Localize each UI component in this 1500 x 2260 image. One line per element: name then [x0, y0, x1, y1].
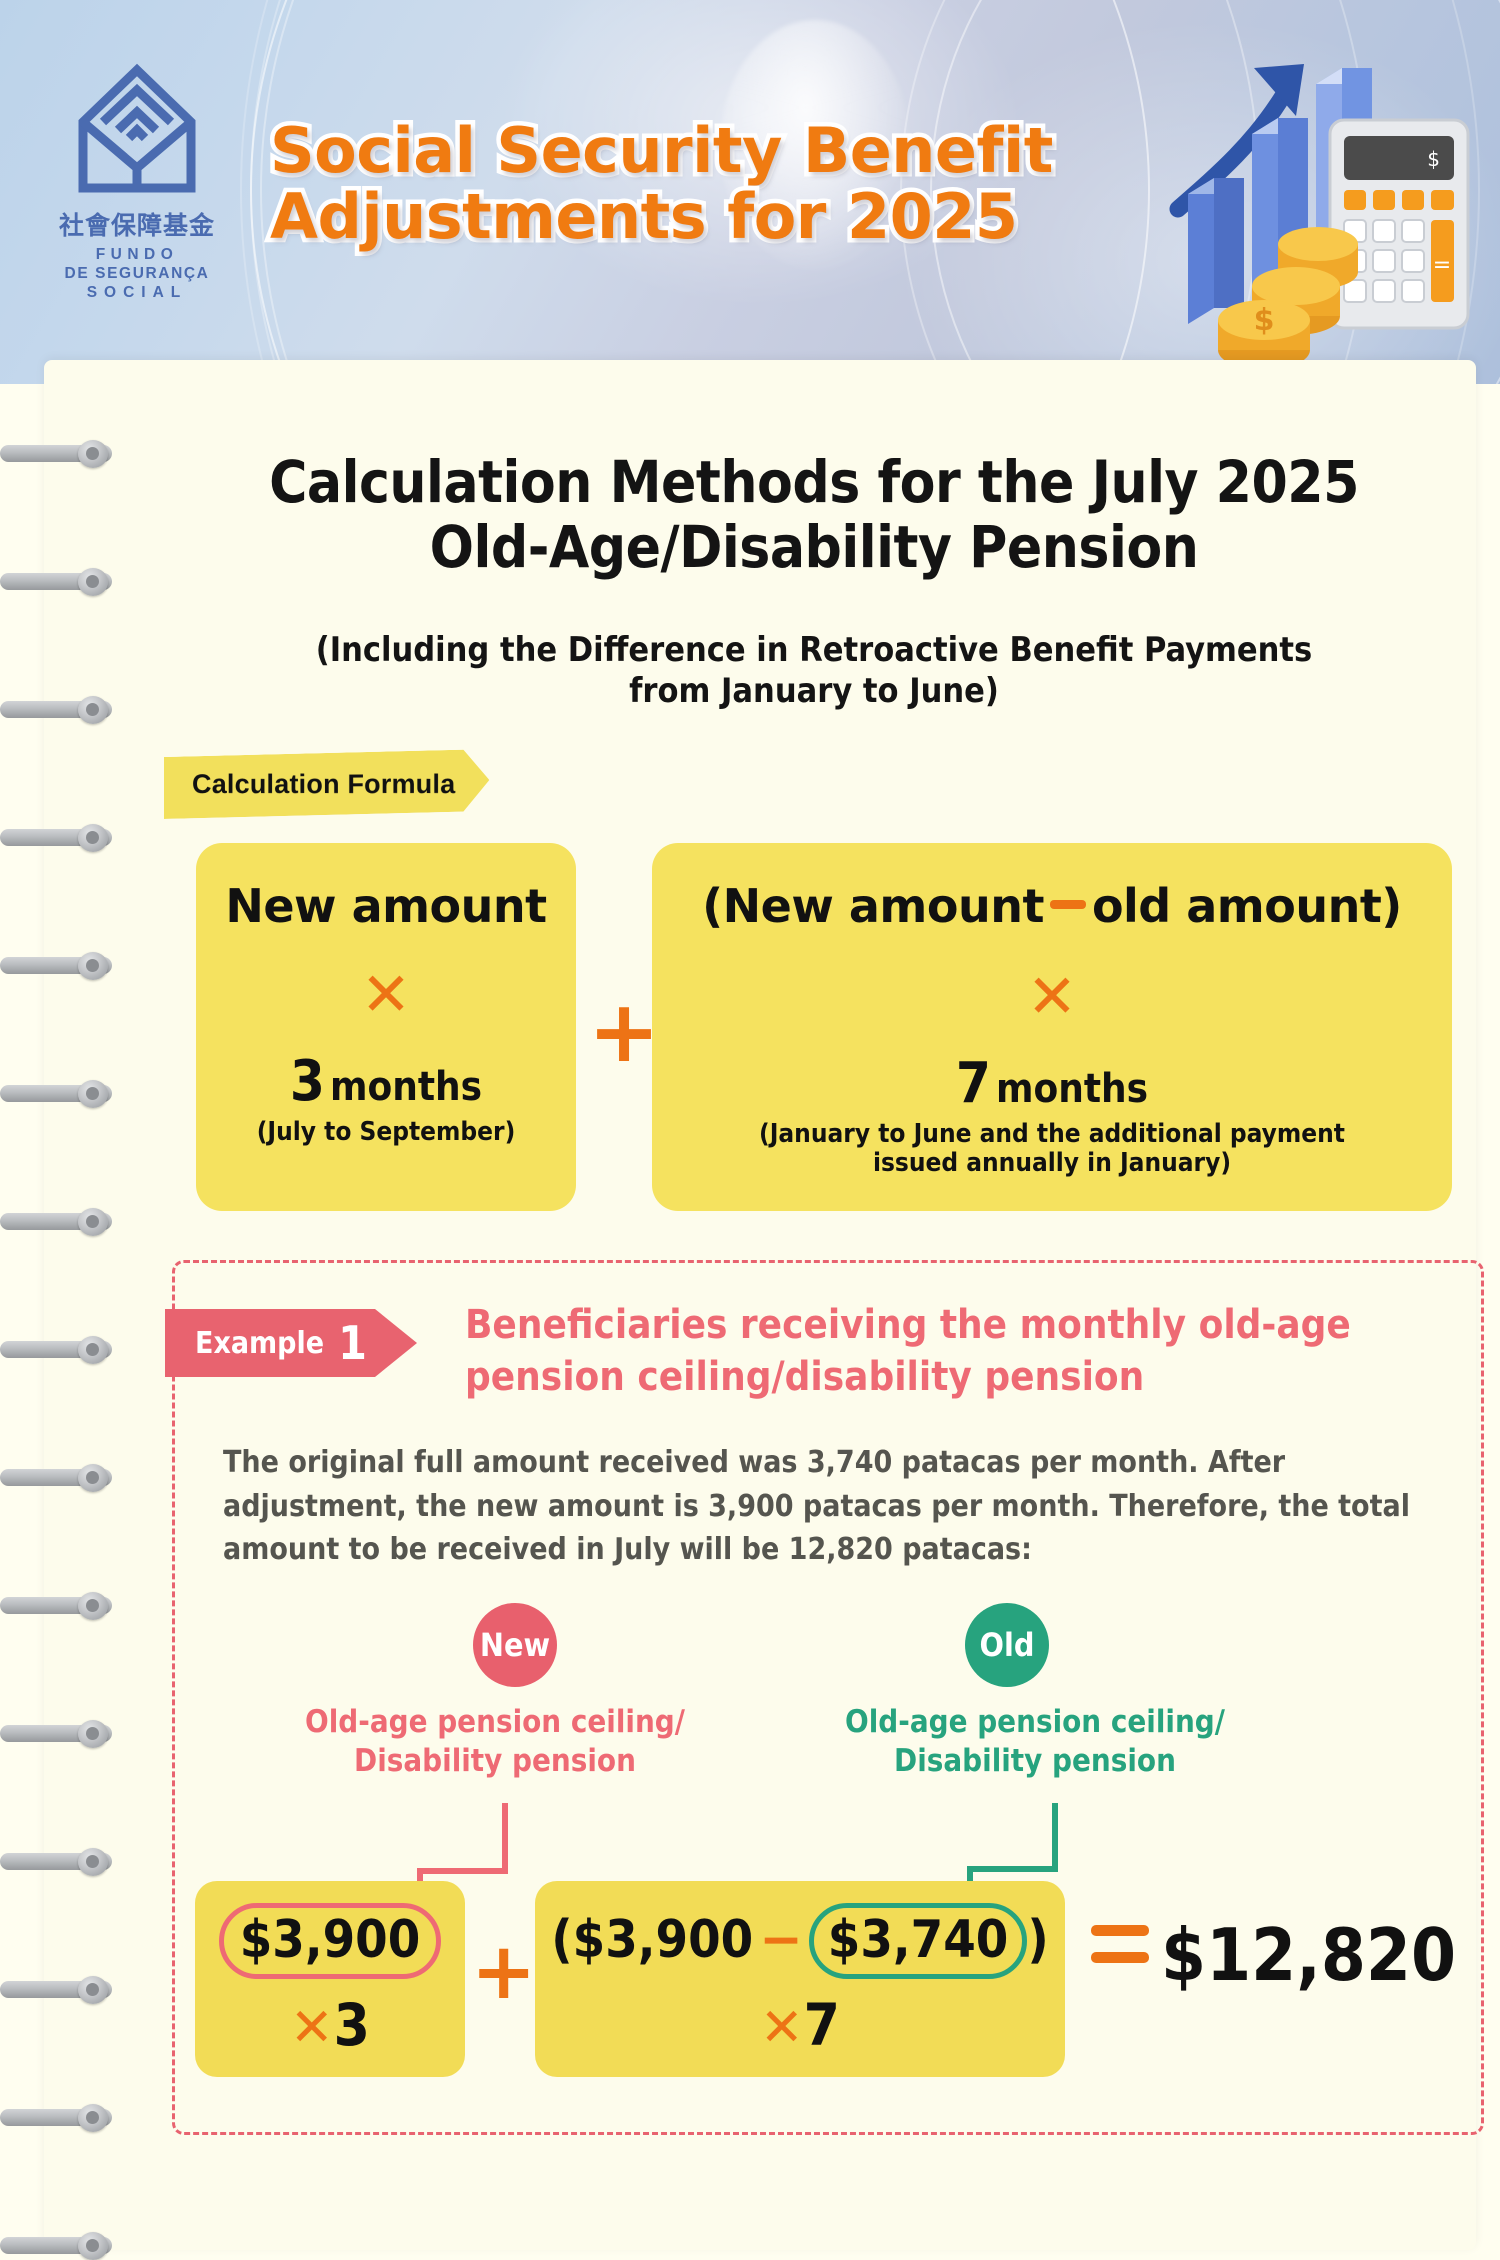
formula-right-note-line-1: (January to June and the additional paym… — [666, 1120, 1438, 1149]
logo-line-1: FUNDO — [42, 246, 232, 265]
equation-multiplier-right: 7 — [804, 1991, 840, 2059]
finance-illustration: $ = — [1068, 24, 1488, 384]
example-tag-label: Example — [195, 1326, 324, 1361]
notebook-sheet: Calculation Methods for the July 2025 Ol… — [44, 360, 1476, 2250]
formula-left-months: 3 months — [196, 1049, 576, 1114]
header-banner: 社會保障基金 FUNDO DE SEGURANÇA SOCIAL Social … — [0, 0, 1500, 384]
example-paragraph: The original full amount received was 3,… — [223, 1441, 1453, 1572]
equation-multiplier-left: 3 — [334, 1991, 370, 2059]
formula-left-note: (July to September) — [196, 1118, 576, 1147]
formula-row: New amount ✕ 3 months (July to September… — [152, 843, 1452, 1223]
infographic-page: 社會保障基金 FUNDO DE SEGURANÇA SOCIAL Social … — [0, 0, 1500, 2250]
equation-card-left: $3,900 ✕3 — [195, 1881, 465, 2077]
page-title: Calculation Methods for the July 2025 Ol… — [184, 450, 1444, 580]
equation-open-paren: ( — [551, 1910, 572, 1970]
example-section: Example 1 Beneficiaries receiving the mo… — [172, 1260, 1484, 2135]
formula-right-heading-a: (New amount — [702, 879, 1044, 933]
equation-plus-icon: + — [471, 1933, 536, 2011]
logo-line-3: SOCIAL — [42, 284, 232, 303]
equation-close-paren: ) — [1027, 1910, 1048, 1970]
page-title-line-2: Old-Age/Disability Pension — [184, 515, 1444, 580]
formula-right-months: 7 months — [652, 1051, 1452, 1116]
multiply-icon-right: ✕ — [652, 967, 1452, 1027]
example-heading-line-1: Beneficiaries receiving the monthly old-… — [465, 1299, 1455, 1351]
fss-logo: 社會保障基金 FUNDO DE SEGURANÇA SOCIAL — [42, 60, 232, 303]
formula-card-left: New amount ✕ 3 months (July to September… — [196, 843, 576, 1211]
formula-right-note: (January to June and the additional paym… — [652, 1120, 1452, 1177]
page-subtitle-line-1: (Including the Difference in Retroactive… — [204, 630, 1424, 671]
svg-text:$: $ — [1427, 147, 1440, 171]
equation-new-amount: $3,900 — [219, 1903, 442, 1979]
svg-text:$: $ — [1254, 303, 1275, 338]
equation-times-left: ✕ — [290, 1998, 334, 2058]
label-old-line-2: Disability pension — [765, 1742, 1305, 1781]
minus-icon — [1050, 900, 1086, 909]
example-heading-line-2: pension ceiling/disability pension — [465, 1351, 1455, 1403]
example-tag: Example 1 — [165, 1309, 417, 1377]
label-old-line-1: Old-age pension ceiling/ — [765, 1703, 1305, 1742]
label-new-pension: Old-age pension ceiling/ Disability pens… — [205, 1703, 785, 1781]
banner-title-line-1: Social Security Benefit — [270, 118, 1170, 184]
badge-new: New — [473, 1603, 557, 1687]
formula-right-heading-b: old amount) — [1092, 879, 1402, 933]
formula-right-months-word: months — [996, 1066, 1148, 1112]
formula-right-note-line-2: issued annually in January) — [666, 1149, 1438, 1178]
calculation-formula-tag-label: Calculation Formula — [192, 769, 455, 800]
plus-icon: + — [588, 989, 660, 1075]
formula-right-heading: (New amountold amount) — [652, 843, 1452, 933]
label-new-line-1: Old-age pension ceiling/ — [205, 1703, 785, 1742]
fss-envelope-logo-icon — [73, 60, 201, 200]
badge-old: Old — [965, 1603, 1049, 1687]
example-heading: Beneficiaries receiving the monthly old-… — [465, 1299, 1455, 1403]
notebook-spiral — [0, 440, 140, 2250]
logo-line-2: DE SEGURANÇA — [42, 265, 232, 284]
svg-text:=: = — [1433, 253, 1451, 278]
page-subtitle: (Including the Difference in Retroactive… — [204, 630, 1424, 713]
example-equation: $3,900 ✕3 + ($3,900−$3,740) ✕7 $ — [175, 1861, 1487, 2101]
page-title-line-1: Calculation Methods for the July 2025 — [184, 450, 1444, 515]
formula-card-right: (New amountold amount) ✕ 7 months (Janua… — [652, 843, 1452, 1211]
equation-times-right: ✕ — [760, 1998, 804, 2058]
equation-card-right: ($3,900−$3,740) ✕7 — [535, 1881, 1065, 2077]
formula-left-months-word: months — [330, 1064, 482, 1110]
formula-left-months-number: 3 — [290, 1049, 325, 1114]
equals-icon — [1091, 1925, 1153, 1963]
equation-minus-icon: − — [753, 1910, 809, 1970]
label-old-pension: Old-age pension ceiling/ Disability pens… — [765, 1703, 1305, 1781]
page-subtitle-line-2: from January to June) — [204, 671, 1424, 712]
logo-chinese-name: 社會保障基金 — [42, 206, 232, 242]
calculation-formula-tag: Calculation Formula — [164, 749, 489, 819]
equation-total: $12,820 — [1161, 1913, 1456, 1997]
multiply-icon: ✕ — [196, 965, 576, 1025]
equation-old-amount: $3,740 — [809, 1903, 1028, 1979]
example-tag-number: 1 — [338, 1320, 367, 1366]
banner-title-line-2: Adjustments for 2025 — [270, 184, 1170, 250]
equation-new-amount-2: $3,900 — [573, 1910, 754, 1970]
label-new-line-2: Disability pension — [205, 1742, 785, 1781]
formula-right-months-number: 7 — [956, 1051, 991, 1116]
banner-title: Social Security Benefit Adjustments for … — [270, 118, 1170, 251]
formula-left-heading: New amount — [196, 843, 576, 933]
